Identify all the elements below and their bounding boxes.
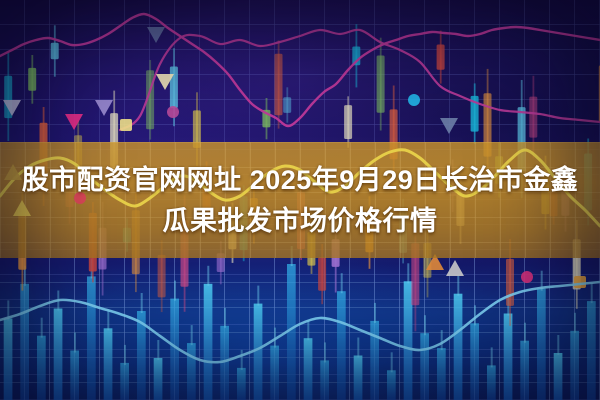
stock-market-banner: 股市配资官网网址 2025年9月29日长治市金鑫 瓜果批发市场价格行情: [0, 0, 600, 400]
volume-line-layer: [0, 0, 600, 400]
